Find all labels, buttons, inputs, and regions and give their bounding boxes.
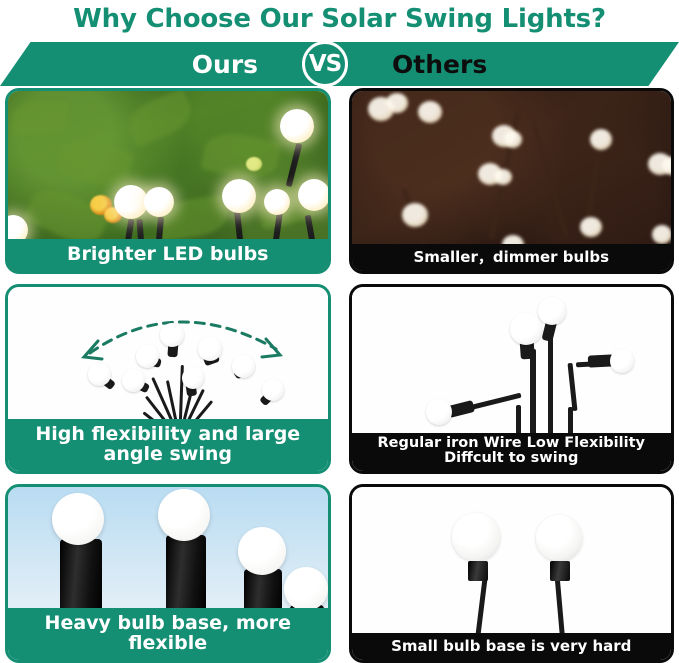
- panel-others-low-flexibility: Regular iron Wire Low Flexibility Diffcu…: [349, 284, 675, 474]
- vs-badge: VS: [302, 41, 348, 87]
- banner-labels-row: Ours VS Others: [0, 42, 679, 86]
- caption-others-row2-line2: Diffcult to swing: [356, 451, 668, 467]
- comparison-row-3: Heavy bulb base, more flexible Small bul…: [0, 484, 679, 663]
- page-title: Why Choose Our Solar Swing Lights?: [0, 4, 679, 34]
- panel-ours-high-flexibility: High flexibility and large angle swing: [5, 284, 331, 474]
- caption-ours-row3: Heavy bulb base, more flexible: [8, 608, 328, 660]
- panel-ours-heavy-base: Heavy bulb base, more flexible: [5, 484, 331, 663]
- others-label: Others: [392, 52, 487, 77]
- caption-ours-row1: Brighter LED bulbs: [8, 239, 328, 271]
- comparison-row-1: Brighter LED bulbs: [0, 88, 679, 274]
- panel-ours-brighter-bulbs: Brighter LED bulbs: [5, 88, 331, 274]
- caption-others-row2: Regular iron Wire Low Flexibility Diffcu…: [352, 433, 672, 471]
- panel-others-dimmer-bulbs: Smaller，dimmer bulbs: [349, 88, 675, 274]
- caption-ours-row2: High flexibility and large angle swing: [8, 419, 328, 471]
- versus-banner: Ours VS Others: [0, 42, 679, 86]
- comparison-grid: Brighter LED bulbs: [0, 88, 679, 663]
- comparison-row-2: High flexibility and large angle swing: [0, 284, 679, 474]
- caption-others-row1: Smaller，dimmer bulbs: [352, 244, 672, 271]
- caption-others-row2-line1: Regular iron Wire Low Flexibility: [356, 436, 668, 452]
- ours-label: Ours: [192, 52, 258, 77]
- panel-others-small-base: Small bulb base is very hard: [349, 484, 675, 663]
- caption-others-row3: Small bulb base is very hard: [352, 633, 672, 660]
